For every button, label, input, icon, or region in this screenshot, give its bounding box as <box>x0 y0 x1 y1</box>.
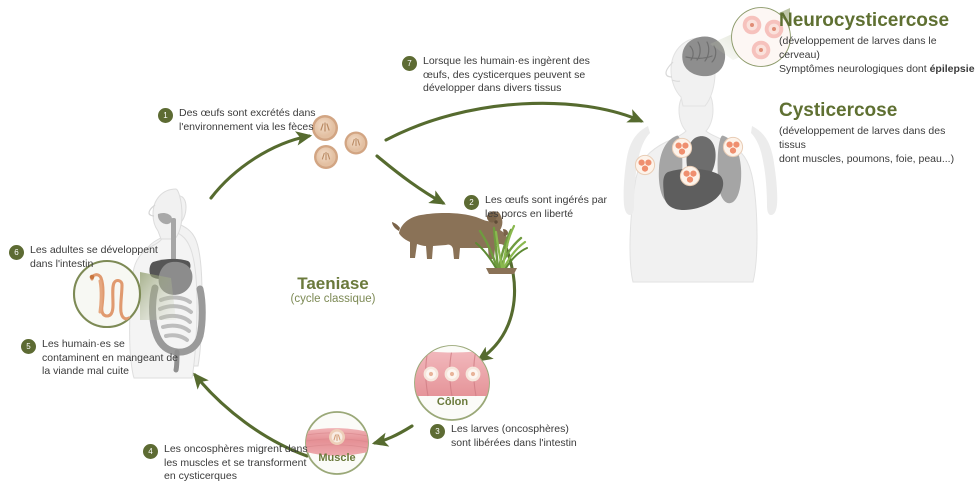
step-7-label: Lorsque les humain·es ingèrent des œufs,… <box>423 55 592 96</box>
step-4-badge: 4 <box>143 444 158 459</box>
step-6: 6 Les adultes se développent dans l'inte… <box>9 244 159 271</box>
neurocysticercose-heading: Neurocysticercose <box>779 10 975 32</box>
step-6-label: Les adultes se développent dans l'intest… <box>30 244 159 271</box>
step-5-badge: 5 <box>21 339 36 354</box>
arrow-2-eggs-to-pig <box>377 156 443 203</box>
step-6-badge: 6 <box>9 245 24 260</box>
taenia-egg-icon <box>312 115 368 169</box>
arrow-1-feces-to-eggs <box>211 136 309 198</box>
arrow-7-eggs-to-human-tissues <box>386 103 641 140</box>
step-1-label: Des œufs sont excrétés dans l'environnem… <box>179 107 318 134</box>
muscle-label-wrap: Muscle <box>302 452 372 464</box>
cycle-title: Taeniase <box>258 274 408 293</box>
cysticercose-block: Cysticercose (développement de larves da… <box>779 100 975 166</box>
step-3-badge: 3 <box>430 424 445 439</box>
neuro-symptom-bold: épilepsie <box>930 63 975 75</box>
step-3-label: Les larves (oncosphères) sont libérées d… <box>451 423 590 450</box>
human-torso-figure-icon <box>624 37 778 282</box>
neurocysticercose-block: Neurocysticercose (développement de larv… <box>779 10 975 76</box>
muscle-label: Muscle <box>302 452 372 464</box>
diagram-canvas: 1 Des œufs sont excrétés dans l'environn… <box>0 0 975 496</box>
step-5: 5 Les humain·es se contaminent en mangea… <box>21 338 181 379</box>
step-3: 3 Les larves (oncosphères) sont libérées… <box>430 423 590 450</box>
neurocysticercose-line2: Symptômes neurologiques dont épilepsie <box>779 62 975 76</box>
step-2: 2 Les œufs sont ingérés par les porcs en… <box>464 194 614 221</box>
step-4: 4 Les oncosphères migrent dans les muscl… <box>143 443 308 484</box>
step-4-label: Les oncosphères migrent dans les muscles… <box>164 443 308 484</box>
step-5-label: Les humain·es se contaminent en mangeant… <box>42 338 181 379</box>
arrow-4-colon-to-muscle <box>375 426 412 443</box>
muscle-tissue-icon <box>306 412 368 474</box>
neurocysticercose-line1: (développement de larves dans le cerveau… <box>779 34 975 62</box>
cysticercose-line2: dont muscles, poumons, foie, peau...) <box>779 152 975 166</box>
step-1-badge: 1 <box>158 108 173 123</box>
colon-tissue-icon <box>413 342 493 420</box>
magnifier-cone-gut <box>140 272 176 320</box>
step-2-badge: 2 <box>464 195 479 210</box>
cycle-subtitle: (cycle classique) <box>258 293 408 305</box>
colon-label: Côlon <box>415 396 490 408</box>
step-7-badge: 7 <box>402 56 417 71</box>
cysticercose-line1: (développement de larves dans des tissus <box>779 124 975 152</box>
step-7: 7 Lorsque les humain·es ingèrent des œuf… <box>402 55 592 96</box>
colon-label-wrap: Côlon <box>415 396 490 408</box>
cycle-title-block: Taeniase (cycle classique) <box>258 274 408 305</box>
step-2-label: Les œufs sont ingérés par les porcs en l… <box>485 194 614 221</box>
cysticercose-heading: Cysticercose <box>779 100 975 122</box>
step-1: 1 Des œufs sont excrétés dans l'environn… <box>158 107 318 134</box>
neuro-symptom-prefix: Symptômes neurologiques dont <box>779 63 930 75</box>
